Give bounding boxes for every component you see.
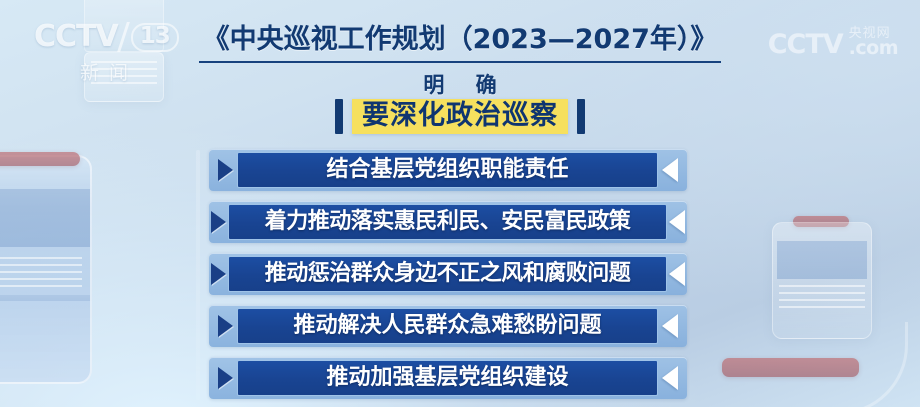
points-list: 结合基层党组织职能责任 着力推动落实惠民利民、安民富民政策 推动惩治群众身边不正… — [209, 149, 687, 407]
highlight-banner: 要深化政治巡察 — [335, 99, 585, 134]
list-item[interactable]: 着力推动落实惠民利民、安民富民政策 — [209, 201, 687, 243]
chevron-left-icon — [669, 262, 685, 286]
deco-corner-curve — [690, 322, 908, 407]
point-label: 推动解决人民群众急难愁盼问题 — [293, 315, 601, 337]
headline-block: 《中央巡视工作规划（2023—2027年）》 明 确 — [0, 24, 920, 99]
point-label: 着力推动落实惠民利民、安民富民政策 — [265, 211, 631, 233]
list-item[interactable]: 推动惩治群众身边不正之风和腐败问题 — [209, 253, 687, 295]
deco-right-red-bar — [722, 358, 859, 377]
list-item[interactable]: 结合基层党组织职能责任 — [209, 149, 687, 191]
deco-left-panel — [0, 155, 92, 384]
deco-right-document — [772, 222, 872, 339]
chevron-left-icon — [669, 210, 685, 234]
deco-left-rail — [196, 150, 200, 400]
point-bar: 推动加强基层党组织建设 — [237, 360, 658, 396]
broadcast-graphic-slide: CCTV 13 新闻 CCTV 央视网 .com 《中央巡视工作规划（2023—… — [0, 0, 920, 407]
point-bar: 推动解决人民群众急难愁盼问题 — [237, 308, 658, 344]
page-title: 《中央巡视工作规划（2023—2027年）》 — [199, 24, 722, 63]
chevron-right-icon — [218, 367, 233, 389]
deco-right-band — [777, 241, 867, 279]
chevron-left-icon — [662, 158, 678, 182]
deco-left-band — [0, 189, 90, 247]
list-item[interactable]: 推动加强基层党组织建设 — [209, 357, 687, 399]
point-bar: 推动惩治群众身边不正之风和腐败问题 — [228, 256, 667, 292]
deco-left-lines — [0, 257, 82, 287]
chevron-left-icon — [662, 314, 678, 338]
point-label: 结合基层党组织职能责任 — [326, 159, 568, 181]
list-item[interactable]: 推动解决人民群众急难愁盼问题 — [209, 305, 687, 347]
point-label: 推动加强基层党组织建设 — [326, 367, 568, 389]
chevron-right-icon — [218, 315, 233, 337]
chevron-right-icon — [211, 263, 226, 285]
point-label: 推动惩治群众身边不正之风和腐败问题 — [265, 263, 631, 285]
deco-left-red-bar — [0, 152, 80, 166]
chevron-right-icon — [218, 159, 233, 181]
point-bar: 着力推动落实惠民利民、安民富民政策 — [228, 204, 667, 240]
chevron-left-icon — [662, 366, 678, 390]
deco-right-lines — [779, 285, 865, 309]
deco-left-band-2 — [0, 295, 90, 301]
chevron-right-icon — [211, 211, 226, 233]
banner-bar-left — [335, 99, 343, 134]
banner-bar-right — [577, 99, 585, 134]
deco-right-clip — [793, 216, 849, 227]
page-subtitle: 明 确 — [0, 69, 920, 99]
highlight-text: 要深化政治巡察 — [352, 99, 568, 134]
point-bar: 结合基层党组织职能责任 — [237, 152, 658, 188]
